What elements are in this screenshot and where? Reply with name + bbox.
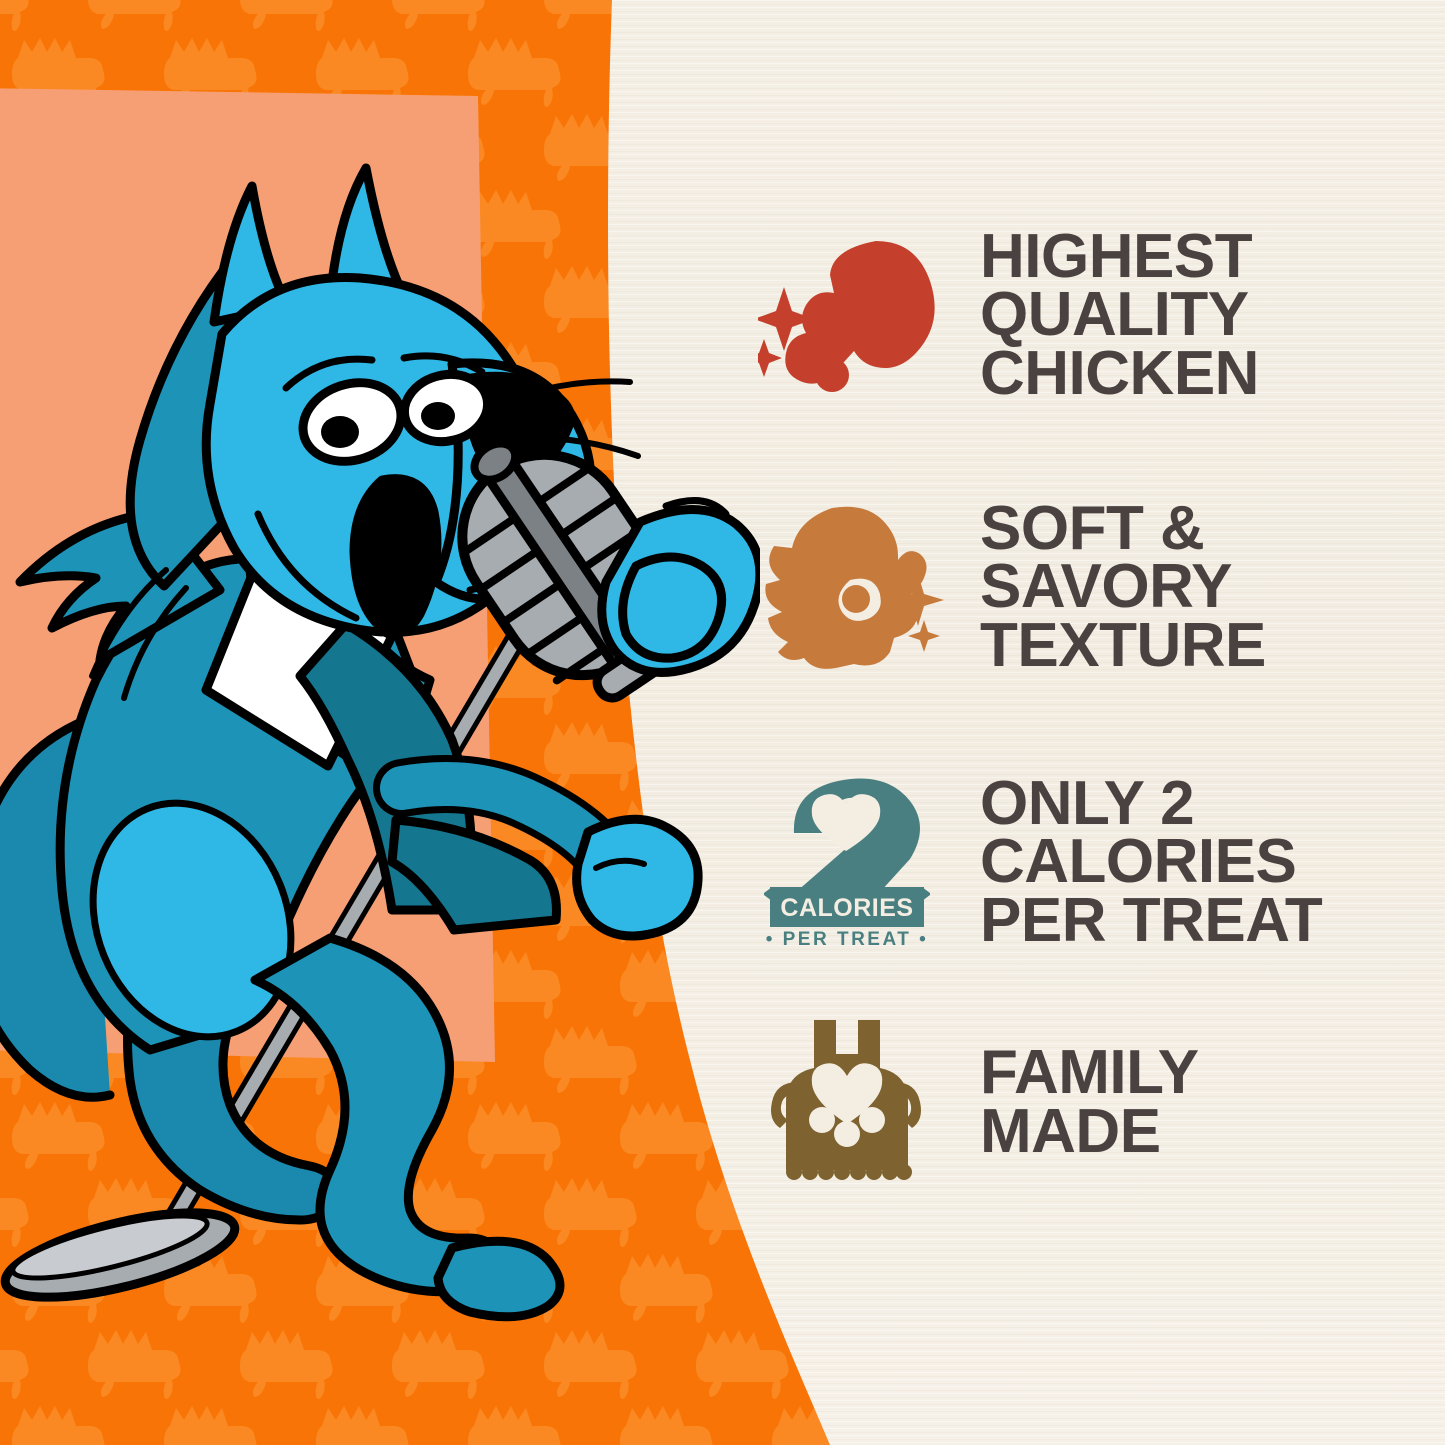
two-calories-badge-icon: CALORIES • PER TREAT •: [758, 775, 948, 950]
feature-line: CALORIES: [980, 833, 1322, 891]
feature-item-only-2-calories: CALORIES • PER TREAT • ONLY 2 CALORIES P…: [758, 775, 1322, 950]
cat-paw-lower: [577, 819, 698, 936]
shredded-chicken-icon: [758, 502, 948, 672]
feature-item-soft-savory-texture: SOFT & SAVORY TEXTURE: [758, 500, 1266, 675]
feature-line: SOFT &: [980, 500, 1266, 558]
chicken-drumstick-icon: [758, 235, 948, 395]
per-treat-label: • PER TREAT •: [766, 929, 929, 950]
feature-line: PER TREAT: [980, 892, 1322, 950]
feature-line: QUALITY: [980, 286, 1259, 344]
feature-line: FAMILY: [980, 1044, 1199, 1102]
feature-label: ONLY 2 CALORIES PER TREAT: [980, 775, 1322, 950]
feature-line: SAVORY: [980, 558, 1266, 616]
feature-label: HIGHEST QUALITY CHICKEN: [980, 228, 1259, 403]
feature-item-highest-quality-chicken: HIGHEST QUALITY CHICKEN: [758, 228, 1259, 403]
feature-line: ONLY 2: [980, 775, 1322, 833]
feature-line: TEXTURE: [980, 617, 1266, 675]
feature-line: HIGHEST: [980, 228, 1259, 286]
feature-line: CHICKEN: [980, 345, 1259, 403]
singing-cat-mascot: [0, 120, 760, 1445]
product-feature-graphic: HIGHEST QUALITY CHICKEN: [0, 0, 1445, 1445]
feature-label: SOFT & SAVORY TEXTURE: [980, 500, 1266, 675]
feature-line: MADE: [980, 1103, 1199, 1161]
apron-paw-icon: [758, 1010, 948, 1195]
feature-item-family-made: FAMILY MADE: [758, 1010, 1199, 1195]
feature-list: HIGHEST QUALITY CHICKEN: [738, 0, 1445, 1445]
feature-label: FAMILY MADE: [980, 1044, 1199, 1161]
calories-band-label: CALORIES: [780, 894, 913, 922]
